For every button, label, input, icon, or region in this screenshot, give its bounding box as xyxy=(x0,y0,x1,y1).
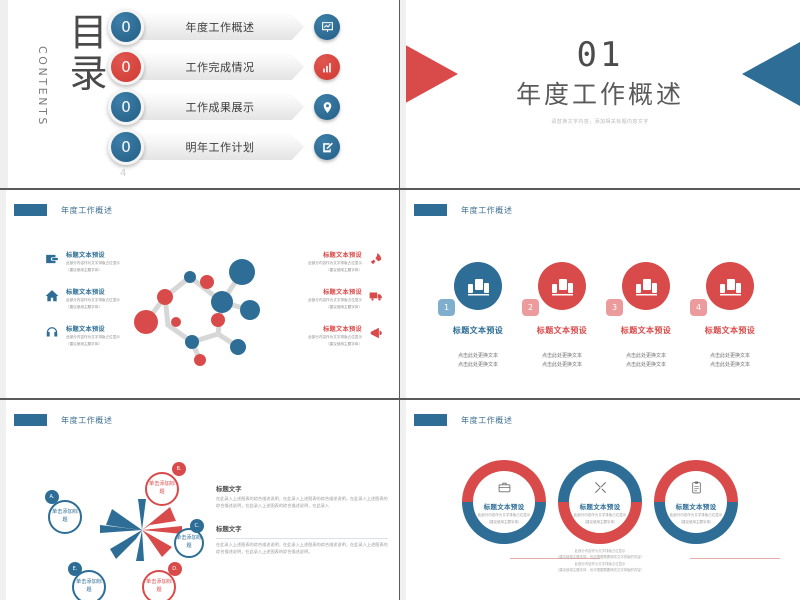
clipboard-icon xyxy=(690,479,703,498)
item-body: 此部分内容作为文字排版占位显示 xyxy=(258,261,362,266)
ring-footer-text: 此部分内容作为文字排版占位显示 （建议使用主题字体，也可根据需要修改文字排版的内… xyxy=(400,548,800,574)
location-pin-icon xyxy=(314,94,340,120)
arrow-text-block-1[interactable]: 标题文字 在此录入上述图表的综合描述说明，在此录入上述图表的综合描述说明，在此录… xyxy=(216,484,388,510)
section-title: 年度工作概述 xyxy=(400,75,800,111)
slide-header: 年度工作概述 xyxy=(14,204,113,216)
circle-title: 标题文本预设 xyxy=(680,325,780,336)
molecule-left-item-2[interactable]: 标题文本预设 此部分内容作为文字排版占位显示 （建议使用主题字体） xyxy=(42,287,170,310)
truck-icon xyxy=(366,287,386,310)
toc-item-4[interactable]: 0 明年工作计划 xyxy=(108,130,358,164)
item-note: （建议使用主题字体） xyxy=(258,268,362,273)
slide-section-01[interactable]: 01 年度工作概述 请替换文字内容，添加相关标题内容文字 xyxy=(400,0,800,188)
ring-item-3[interactable]: 标题文本预设 此部分内容作为文字排版占位显示 （建议使用主题字体） xyxy=(654,460,738,544)
megaphone-icon xyxy=(366,324,386,347)
header-title: 年度工作概述 xyxy=(61,415,113,426)
circle-item-4[interactable]: 4 标题文本预设 点击此处更换文本 点击此处更换文本 xyxy=(680,262,780,370)
wallet-icon xyxy=(42,250,62,273)
toc-label-3[interactable]: 工作成果展示 xyxy=(136,94,304,120)
item-note: （建议使用主题字体） xyxy=(66,342,120,347)
badge-number: 2 xyxy=(522,299,539,316)
text-divider xyxy=(216,538,388,539)
item-note: （建议使用主题字体） xyxy=(258,305,362,310)
toc-title-cn: 目录 xyxy=(64,12,104,94)
item-title: 标题文本预设 xyxy=(258,287,362,296)
text-body: 在此录入上述图表的综合描述说明，在此录入上述图表的综合描述说明，在此录入上述图表… xyxy=(216,542,388,556)
arrow-tag-a: A. xyxy=(45,490,59,504)
slide-header: 年度工作概述 xyxy=(414,414,513,426)
item-body: 此部分内容作为文字排版占位显示 xyxy=(66,335,120,340)
arrow-tag-c: C. xyxy=(190,519,204,533)
item-title: 标题文本预设 xyxy=(66,324,120,333)
arrow-tag-e: E. xyxy=(68,562,82,576)
text-body: 在此录入上述图表的综合描述说明，在此录入上述图表的综合描述说明，在此录入上述图表… xyxy=(216,496,388,510)
item-note: （建议使用主题字体） xyxy=(66,268,120,273)
slide-molecule[interactable]: 年度工作概述 xyxy=(0,190,399,398)
molecule-right-item-1[interactable]: 标题文本预设 此部分内容作为文字排版占位显示 （建议使用主题字体） xyxy=(258,250,386,273)
toc-label-2[interactable]: 工作完成情况 xyxy=(136,54,304,80)
ring-note: （建议使用主题字体） xyxy=(679,520,714,525)
molecule-right-item-2[interactable]: 标题文本预设 此部分内容作为文字排版占位显示 （建议使用主题字体） xyxy=(258,287,386,310)
bar-chart-icon xyxy=(314,54,340,80)
slide-header: 年度工作概述 xyxy=(14,414,113,426)
item-body: 此部分内容作为文字排版占位显示 xyxy=(66,298,120,303)
ring-body: 此部分内容作为文字排版占位显示 xyxy=(574,513,627,518)
slide-thumbnail-grid: 目录 CONTENTS 0 年度工作概述 0 工作完成情况 0 工作成果展示 xyxy=(0,0,800,600)
headphones-icon xyxy=(42,324,62,347)
toc-label-4[interactable]: 明年工作计划 xyxy=(136,134,304,160)
toc-number-4: 0 xyxy=(108,129,144,165)
item-body: 此部分内容作为文字排版占位显示 xyxy=(258,298,362,303)
badge-number: 1 xyxy=(438,299,455,316)
header-accent-box xyxy=(414,414,447,426)
slide-contents[interactable]: 目录 CONTENTS 0 年度工作概述 0 工作完成情况 0 工作成果展示 xyxy=(0,0,399,188)
tools-icon xyxy=(594,479,607,498)
item-title: 标题文本预设 xyxy=(66,250,120,259)
item-note: （建议使用主题字体） xyxy=(258,342,362,347)
home-icon xyxy=(42,287,62,310)
arrow-bubble-b[interactable]: 单击添加标题 xyxy=(145,472,179,506)
ring-item-2[interactable]: 标题文本预设 此部分内容作为文字排版占位显示 （建议使用主题字体） xyxy=(558,460,642,544)
item-body: 此部分内容作为文字排版占位显示 xyxy=(258,335,362,340)
ring-item-1[interactable]: 标题文本预设 此部分内容作为文字排版占位显示 （建议使用主题字体） xyxy=(462,460,546,544)
arrow-bubble-a[interactable]: 单击添加标题 xyxy=(48,500,82,534)
text-title: 标题文字 xyxy=(216,484,388,493)
rocket-icon xyxy=(366,250,386,273)
ring-body: 此部分内容作为文字排版占位显示 xyxy=(670,513,723,518)
section-title-block: 01 年度工作概述 请替换文字内容，添加相关标题内容文字 xyxy=(400,38,800,125)
badge-number: 3 xyxy=(606,299,623,316)
devices-icon: 1 xyxy=(454,262,502,310)
devices-icon: 4 xyxy=(706,262,754,310)
ring-body: 此部分内容作为文字排版占位显示 xyxy=(478,513,531,518)
toc-label-1[interactable]: 年度工作概述 xyxy=(136,14,304,40)
toc-number-2: 0 xyxy=(108,49,144,85)
header-accent-box xyxy=(14,414,47,426)
badge-number: 4 xyxy=(690,299,707,316)
header-title: 年度工作概述 xyxy=(61,205,113,216)
slide-rings[interactable]: 年度工作概述 标题文本预设 此部分内容作为文字排版占位显示 （建议使用主题字体）… xyxy=(400,400,800,600)
toc-item-3[interactable]: 0 工作成果展示 xyxy=(108,90,358,124)
arrow-text-block-2[interactable]: 标题文字 在此录入上述图表的综合描述说明，在此录入上述图表的综合描述说明，在此录… xyxy=(216,524,388,556)
slide-arrows[interactable]: 年度工作概述 单击添加标题 A. 单击添加标题 B. 单击添加标题 C. 单击添… xyxy=(0,400,399,600)
circle-body: 点击此处更换文本 点击此处更换文本 xyxy=(680,352,780,370)
toc-number-1: 0 xyxy=(108,9,144,45)
briefcase-icon xyxy=(498,479,511,498)
toc-number-3: 0 xyxy=(108,89,144,125)
item-note: （建议使用主题字体） xyxy=(66,305,120,310)
arrow-burst-diagram xyxy=(92,495,192,565)
ring-title: 标题文本预设 xyxy=(484,501,525,511)
item-body: 此部分内容作为文字排版占位显示 xyxy=(66,261,120,266)
item-title: 标题文本预设 xyxy=(258,324,362,333)
edit-note-icon xyxy=(314,134,340,160)
devices-icon: 3 xyxy=(622,262,670,310)
molecule-right-item-3[interactable]: 标题文本预设 此部分内容作为文字排版占位显示 （建议使用主题字体） xyxy=(258,324,386,347)
toc-item-2[interactable]: 0 工作完成情况 xyxy=(108,50,358,84)
ring-title: 标题文本预设 xyxy=(580,501,621,511)
toc-page-number: 4 xyxy=(120,168,126,179)
header-accent-box xyxy=(414,204,447,216)
ring-note: （建议使用主题字体） xyxy=(487,520,522,525)
ring-title: 标题文本预设 xyxy=(676,501,717,511)
item-title: 标题文本预设 xyxy=(66,287,120,296)
header-accent-box xyxy=(14,204,47,216)
section-number: 01 xyxy=(400,38,800,72)
toc-title-en: CONTENTS xyxy=(36,46,49,127)
header-title: 年度工作概述 xyxy=(461,415,513,426)
item-title: 标题文本预设 xyxy=(258,250,362,259)
header-title: 年度工作概述 xyxy=(461,205,513,216)
arrow-tag-d: D. xyxy=(168,562,182,576)
arrow-tag-b: B. xyxy=(172,462,186,476)
ring-note: （建议使用主题字体） xyxy=(583,520,618,525)
toc-item-1[interactable]: 0 年度工作概述 xyxy=(108,10,358,44)
slide-four-circles[interactable]: 年度工作概述 1 标题文本预设 点击此处更换文本 点击此处更换文本 2 标题文本… xyxy=(400,190,800,398)
toc-title-block: 目录 CONTENTS xyxy=(34,8,108,168)
section-subtitle: 请替换文字内容，添加相关标题内容文字 xyxy=(400,118,800,125)
devices-icon: 2 xyxy=(538,262,586,310)
molecule-left-item-3[interactable]: 标题文本预设 此部分内容作为文字排版占位显示 （建议使用主题字体） xyxy=(42,324,170,347)
presentation-icon xyxy=(314,14,340,40)
slide-header: 年度工作概述 xyxy=(414,204,513,216)
text-title: 标题文字 xyxy=(216,524,388,533)
molecule-left-item-1[interactable]: 标题文本预设 此部分内容作为文字排版占位显示 （建议使用主题字体） xyxy=(42,250,170,273)
